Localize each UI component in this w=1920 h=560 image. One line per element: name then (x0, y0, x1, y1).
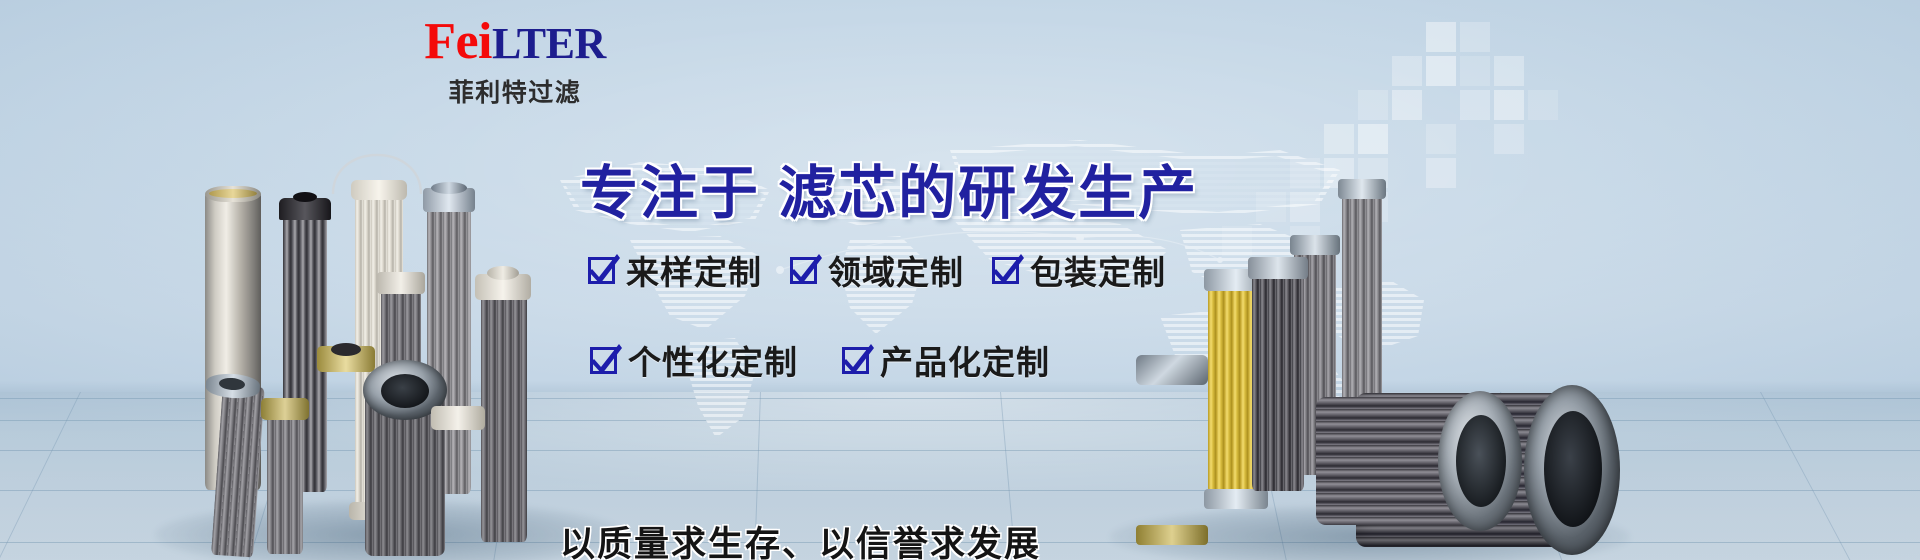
feature-row: 个性化定制 产品化定制 (590, 336, 1166, 384)
company-logo: FeiLTER 菲利特过滤 (395, 14, 635, 109)
filter-cartridge (267, 412, 303, 554)
feature-row: 来样定制 领域定制 包装定制 (588, 246, 1166, 294)
feature-item-ge-xing-hua: 个性化定制 (590, 336, 798, 384)
checkbox-checked-icon (590, 347, 617, 374)
feature-label: 来样定制 (626, 246, 762, 294)
feature-item-bao-zhuang: 包装定制 (992, 246, 1166, 294)
logo-word-lter: LTER (492, 19, 606, 68)
logo-chinese-name: 菲利特过滤 (395, 73, 635, 109)
headline: 专注于 滤芯的研发生产 (580, 146, 1198, 230)
feature-label: 个性化定制 (628, 336, 798, 384)
filter-cartridge (437, 426, 479, 558)
bottom-slogan: 以质量求生存、以信誉求发展 (560, 516, 1041, 560)
feature-checklist: 来样定制 领域定制 包装定制 个性化定制 (588, 246, 1166, 384)
checkbox-checked-icon (790, 257, 817, 284)
feature-label: 包装定制 (1030, 246, 1166, 294)
promo-banner: FeiLTER 菲利特过滤 专注于 滤芯的研发生产 来样定制 领域定制 (0, 0, 1920, 560)
logo-word-fei: Fei (424, 13, 492, 70)
filter-cartridges-left (175, 130, 595, 550)
feature-label: 领域定制 (828, 246, 964, 294)
filter-cartridge (1252, 271, 1304, 491)
checkbox-checked-icon (992, 257, 1019, 284)
filter-cartridge (1140, 375, 1204, 533)
feature-item-ling-yu: 领域定制 (790, 246, 964, 294)
logo-wordmark: FeiLTER (395, 14, 635, 69)
feature-label: 产品化定制 (880, 336, 1050, 384)
checkbox-checked-icon (588, 257, 615, 284)
filter-cartridges-right (1120, 180, 1620, 555)
feature-item-lai-yang: 来样定制 (588, 246, 762, 294)
checkbox-checked-icon (842, 347, 869, 374)
cartridge-wire-handle (325, 134, 433, 198)
feature-item-chan-pin-hua: 产品化定制 (842, 336, 1050, 384)
filter-cartridge (481, 286, 527, 542)
